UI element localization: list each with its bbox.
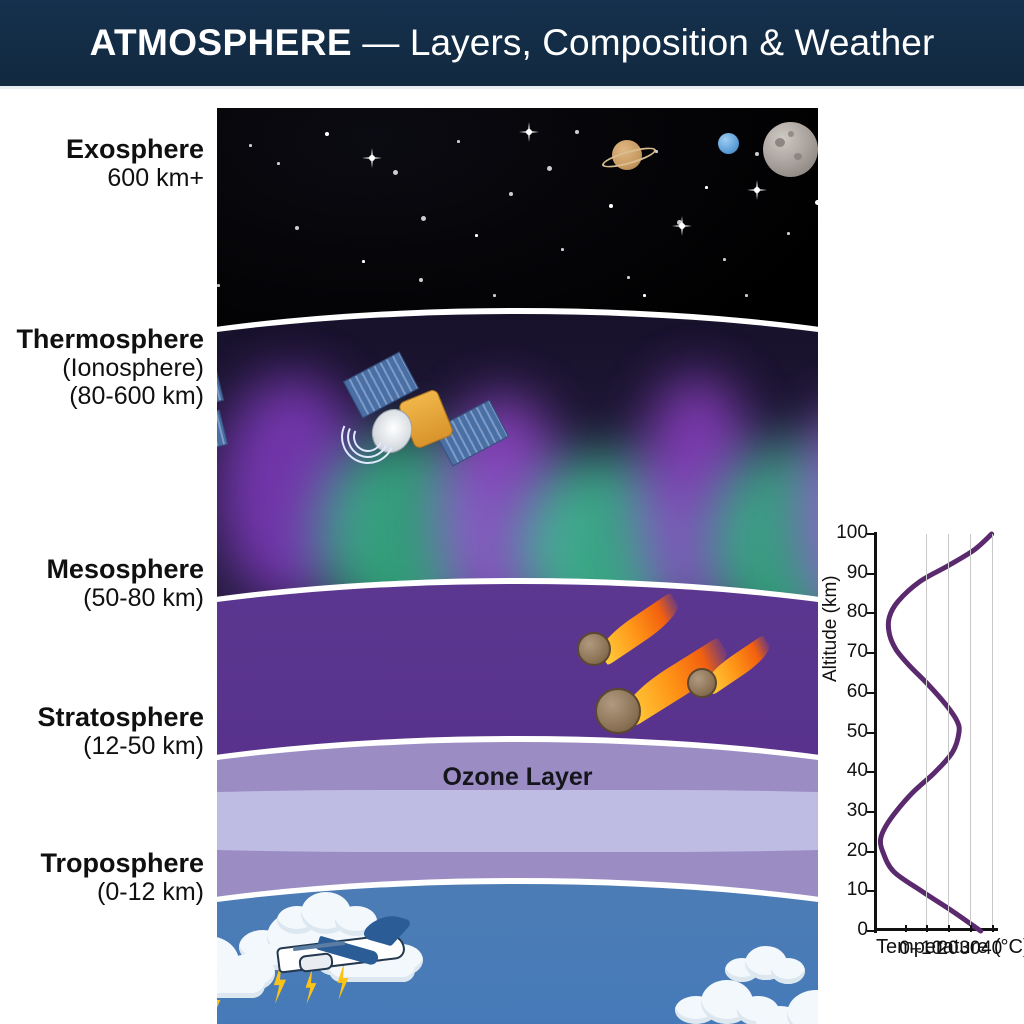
chart-y-tick <box>867 692 874 694</box>
page-title: ATMOSPHERE — Layers, Composition & Weath… <box>90 22 935 64</box>
infographic-page: ATMOSPHERE — Layers, Composition & Weath… <box>0 0 1024 1024</box>
chart-y-tick <box>867 573 874 575</box>
layer-altitude: (12-50 km) <box>37 732 204 760</box>
chart-y-tick <box>867 890 874 892</box>
chart-x-tick <box>970 925 972 932</box>
chart-y-axis-label: Altitude (km) <box>820 575 842 682</box>
page-title-strong: ATMOSPHERE <box>90 22 352 63</box>
chart-y-tick-label: 50 <box>847 721 868 743</box>
layer-altitude: (0-12 km) <box>40 878 204 906</box>
ozone-layer-band <box>217 790 818 852</box>
chart-y-tick-label: 30 <box>847 800 868 822</box>
chart-y-tick-label: 20 <box>847 840 868 862</box>
layer-altitude: (80-600 km) <box>16 382 204 410</box>
layer-name: Mesosphere <box>46 554 204 584</box>
layer-name: Thermosphere <box>16 324 204 354</box>
header-bar: ATMOSPHERE — Layers, Composition & Weath… <box>0 0 1024 86</box>
chart-y-tick-label: 10 <box>847 879 868 901</box>
layer-altitude: 600 km+ <box>66 164 204 192</box>
atmosphere-illustration: Ozone Layer <box>217 108 818 1024</box>
chart-y-tick <box>867 652 874 654</box>
layer-label-mesosphere: Mesosphere (50-80 km) <box>46 554 204 612</box>
layer-name: Stratosphere <box>37 702 204 732</box>
layer-name: Exosphere <box>66 134 204 164</box>
layer-name: Troposphere <box>40 848 204 878</box>
chart-y-tick-label: 40 <box>847 760 868 782</box>
temperature-curve <box>874 534 996 931</box>
chart-y-tick-label: 100 <box>836 522 868 544</box>
chart-x-tick <box>992 925 994 932</box>
chart-x-axis-label: Temperature (°C) <box>876 936 1024 959</box>
layer-alias: (Ionosphere) <box>16 354 204 382</box>
chart-y-tick-label: 70 <box>847 641 868 663</box>
chart-y-tick <box>867 771 874 773</box>
star <box>672 216 692 236</box>
chart-y-tick <box>867 930 874 932</box>
chart-y-tick <box>867 851 874 853</box>
chart-y-tick <box>867 732 874 734</box>
layer-label-column: Exosphere 600 km+ Thermosphere (Ionosphe… <box>0 86 212 1024</box>
saturn-icon <box>612 140 642 170</box>
star <box>519 122 539 142</box>
chart-line-series <box>880 534 991 931</box>
space-station-icon <box>217 372 225 502</box>
layer-label-thermosphere: Thermosphere (Ionosphere) (80-600 km) <box>16 324 204 410</box>
troposphere-band <box>217 878 818 1024</box>
chart-y-tick-label: 80 <box>847 602 868 624</box>
layer-label-exosphere: Exosphere 600 km+ <box>66 134 204 192</box>
star <box>747 180 767 200</box>
chart-y-tick-label: 0 <box>857 919 868 941</box>
temperature-profile-chart: Altitude (km) 01020304050607080901000–10… <box>826 500 1024 970</box>
layer-label-stratosphere: Stratosphere (12-50 km) <box>37 702 204 760</box>
ozone-layer-label: Ozone Layer <box>217 763 818 792</box>
page-title-rest: — Layers, Composition & Weather <box>352 22 934 63</box>
chart-plot-area: 01020304050607080901000–10203040 <box>874 534 996 931</box>
chart-gridline <box>992 534 993 931</box>
moon-icon <box>763 122 818 177</box>
chart-x-tick <box>948 925 950 932</box>
layer-label-troposphere: Troposphere (0-12 km) <box>40 848 204 906</box>
satellite-icon <box>347 360 497 480</box>
planet-icon <box>718 133 739 154</box>
chart-gridline <box>948 534 949 931</box>
chart-gridline <box>926 534 927 931</box>
chart-y-tick-label: 90 <box>847 562 868 584</box>
chart-x-tick <box>926 925 928 932</box>
star <box>362 148 382 168</box>
chart-y-tick <box>867 612 874 614</box>
chart-y-tick <box>867 811 874 813</box>
layer-altitude: (50-80 km) <box>46 584 204 612</box>
chart-x-tick <box>905 925 907 932</box>
airplane-icon <box>269 920 409 976</box>
chart-gridline <box>970 534 971 931</box>
chart-y-tick <box>867 533 874 535</box>
chart-y-tick-label: 60 <box>847 681 868 703</box>
